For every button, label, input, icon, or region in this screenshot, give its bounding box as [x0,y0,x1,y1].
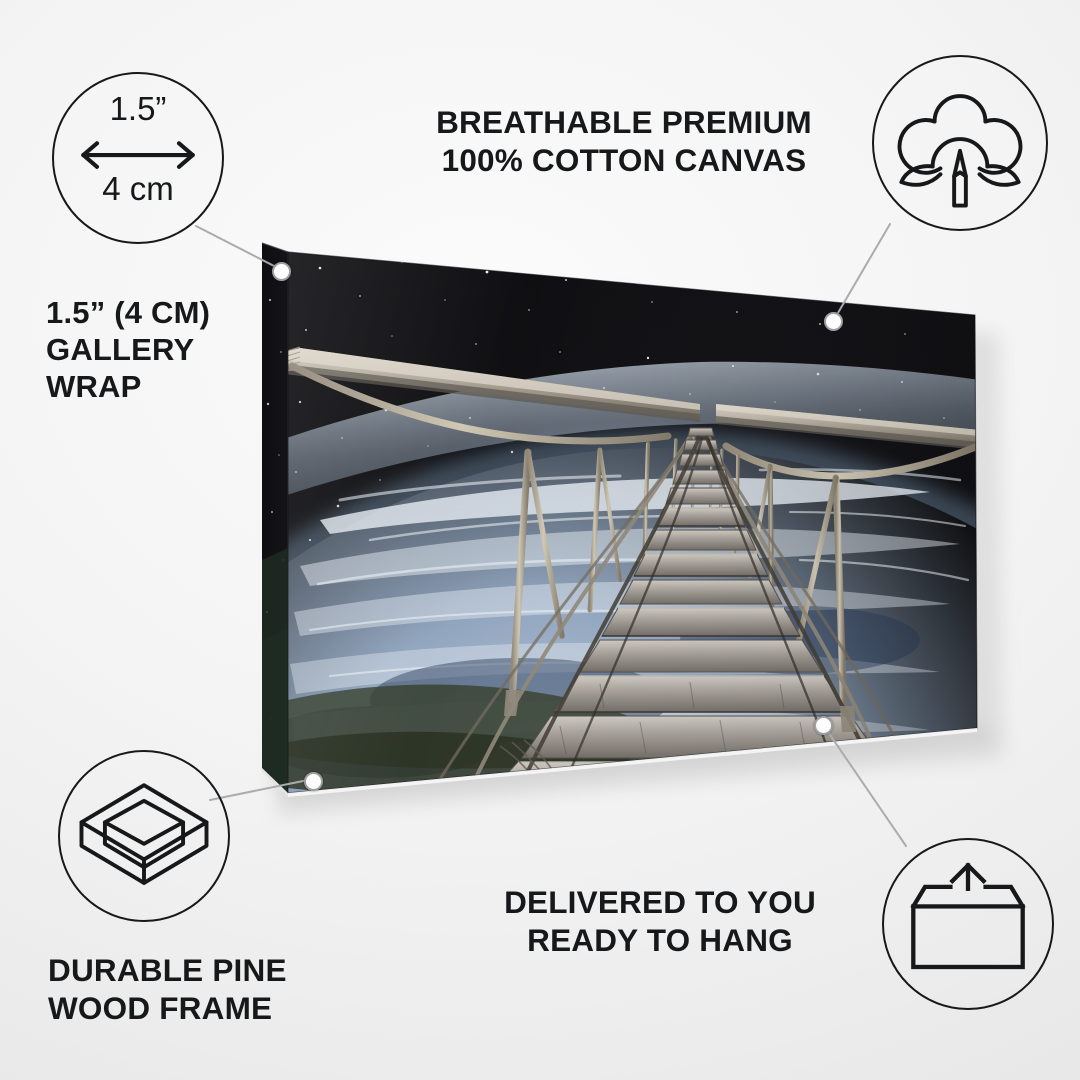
connector-dot-cotton [824,312,843,331]
feature-label-cotton: BREATHABLE PREMIUM 100% COTTON CANVAS [398,104,850,180]
ruler-arrow-icon [54,74,222,242]
open-box-arrow-up-icon [884,840,1052,1008]
infographic-canvas: 1.5” 4 cm [0,0,1080,1080]
depth-cm-label: 4 cm [54,170,222,208]
feature-label-gallery-wrap: 1.5” (4 CM) GALLERY WRAP [46,294,306,406]
cotton-boll-icon [874,57,1046,229]
badge-frame [58,750,230,922]
wood-frame-box-icon [60,752,228,920]
connector-dot-ship [814,716,833,735]
feature-label-frame: DURABLE PINE WOOD FRAME [48,952,378,1028]
connector-dot-wrap [272,262,291,281]
feature-label-delivery: DELIVERED TO YOU READY TO HANG [470,884,850,960]
badge-depth: 1.5” 4 cm [52,72,224,244]
badge-cotton [872,55,1048,231]
badge-ship [882,838,1054,1010]
connector-dot-frame [304,772,323,791]
